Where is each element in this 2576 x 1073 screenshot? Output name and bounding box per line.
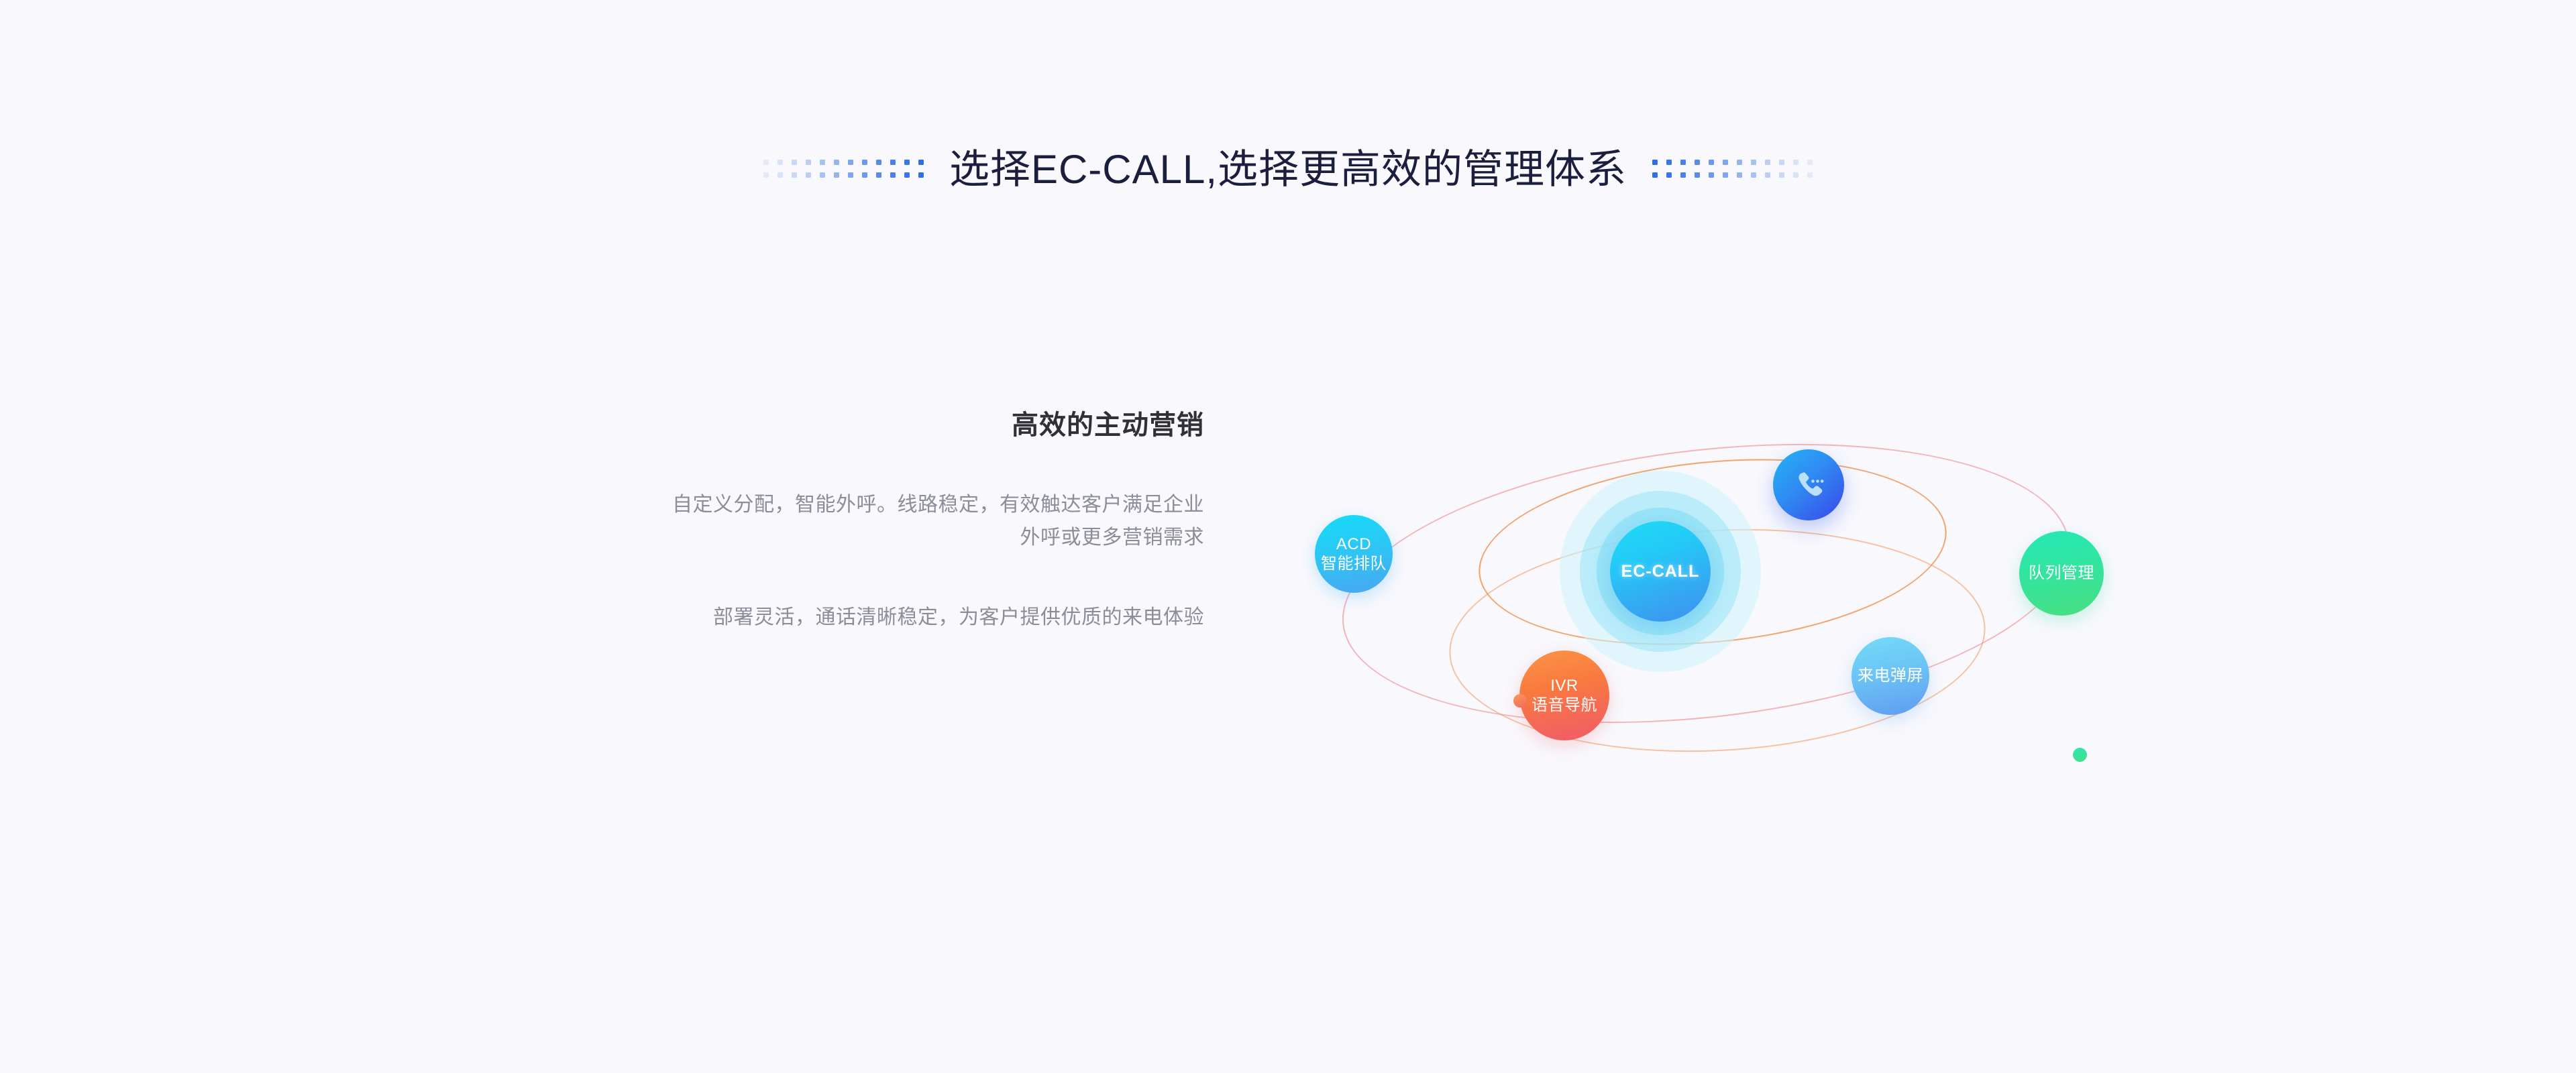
feature-text-column: 高效的主动营销 自定义分配，智能外呼。线路稳定，有效触达客户满足企业外呼或更多营… [667,409,1204,634]
center-node-ec-call[interactable]: EC-CALL [1610,521,1711,622]
node-queue-management-label: 队列管理 [2029,563,2094,583]
node-ivr-label-primary: IVR [1550,676,1578,695]
orbit-dot-orange [1513,694,1527,708]
center-node-label: EC-CALL [1621,562,1700,581]
node-ivr[interactable]: IVR 语音导航 [1519,651,1609,740]
feature-paragraph-2: 部署灵活，通话清晰稳定，为客户提供优质的来电体验 [667,601,1204,634]
dotted-grid-left-icon [763,160,924,180]
node-acd[interactable]: ACD 智能排队 [1315,515,1393,593]
orbit-dot-green [2073,748,2087,762]
ec-call-orbit-diagram: EC-CALL ACD 智能排队 IVR 语音导航 队列管理 来电弹屏 [1315,429,2180,805]
feature-paragraph-1: 自定义分配，智能外呼。线路稳定，有效触达客户满足企业外呼或更多营销需求 [667,488,1204,554]
node-incoming-call-popup-label: 来电弹屏 [1858,666,1923,685]
page-title: 选择EC-CALL,选择更高效的管理体系 [949,150,1627,190]
page-header: 选择EC-CALL,选择更高效的管理体系 [0,133,2576,207]
node-acd-label-secondary: 智能排队 [1321,554,1387,573]
feature-heading: 高效的主动营销 [667,409,1204,441]
node-queue-management[interactable]: 队列管理 [2019,531,2104,616]
node-incoming-call-popup[interactable]: 来电弹屏 [1851,637,1929,715]
node-ivr-label-secondary: 语音导航 [1532,695,1597,715]
node-acd-label-primary: ACD [1336,534,1371,554]
dotted-grid-right-icon [1652,160,1813,180]
phone-call-icon[interactable] [1773,449,1844,520]
